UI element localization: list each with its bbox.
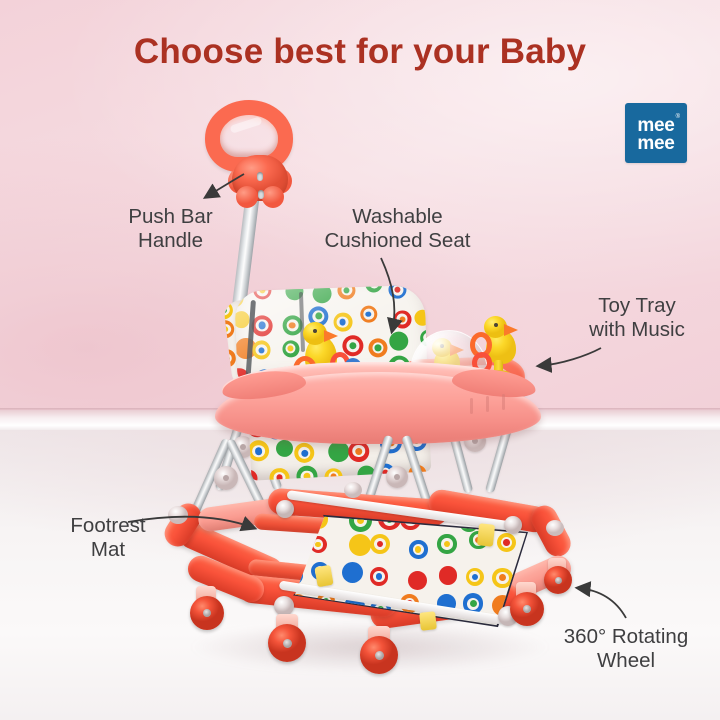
callout-label-rotating-wheel: 360° Rotating Wheel: [538, 625, 714, 673]
callout-label-footrest-mat: Footrest Mat: [52, 514, 164, 562]
wheel-hub: [283, 639, 292, 648]
duck-toy-beak: [324, 330, 338, 342]
handle-knob-lobe: [236, 186, 258, 208]
base-bumper-nub: [344, 482, 362, 498]
callout-label-push-bar-handle: Push Bar Handle: [118, 205, 223, 253]
wheel-hub: [375, 651, 384, 660]
wheel-hub: [523, 605, 531, 613]
mat-clip: [419, 611, 437, 631]
base-bumper-nub: [168, 506, 188, 524]
tray-ridge: [502, 394, 505, 410]
callout-label-washable-cushioned-seat: Washable Cushioned Seat: [300, 205, 495, 253]
frame-hinge-pin: [394, 474, 400, 480]
mat-clip: [314, 565, 333, 587]
handle-adjust-hole: [257, 172, 263, 181]
footrest-mat-knob: [274, 596, 294, 616]
tray-ridge: [470, 398, 473, 414]
callout-label-toy-tray-with-music: Toy Tray with Music: [573, 294, 701, 342]
footrest-mat-knob: [276, 500, 294, 518]
duck-toy-eye: [494, 323, 498, 327]
mat-clip: [477, 523, 495, 547]
duck-toy-eye: [313, 329, 317, 333]
frame-hinge-pin: [223, 475, 229, 481]
footrest-mat-knob: [504, 516, 522, 534]
wheel-hub: [555, 577, 562, 584]
duck-toy-beak: [504, 324, 518, 336]
product-infographic: Choose best for your Baby mee mee ®: [0, 0, 720, 720]
frame-hinge-pin: [240, 444, 246, 450]
wheel-hub: [203, 609, 211, 617]
baby-walker-illustration: [0, 0, 720, 720]
base-bumper-nub: [546, 520, 564, 536]
tray-ridge: [486, 396, 489, 412]
handle-knob-lobe: [262, 186, 284, 208]
handle-adjust-hole: [258, 190, 264, 199]
